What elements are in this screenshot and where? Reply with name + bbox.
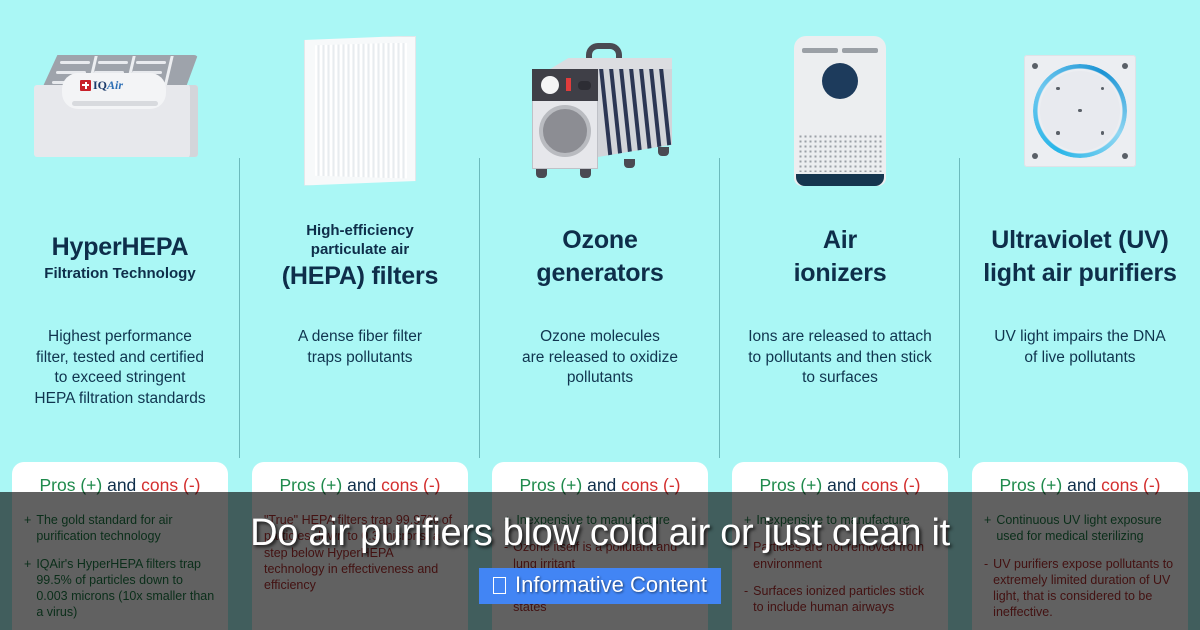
uv-light-panel-icon	[968, 0, 1192, 215]
informative-content-badge[interactable]: Informative Content	[479, 568, 721, 604]
missing-glyph-icon	[493, 577, 506, 594]
badge-label: Informative Content	[515, 572, 707, 598]
pleated-hepa-filter-icon	[248, 0, 472, 215]
column-title-block: Ultraviolet (UV)light air purifiers	[983, 215, 1176, 299]
column-title: Ultraviolet (UV)light air purifiers	[983, 224, 1176, 291]
overlay-title: Do air purifiers blow cold air or just c…	[0, 512, 1200, 555]
column-subtitle: Filtration Technology	[44, 264, 195, 284]
column-description: Ions are released to attachto pollutants…	[748, 327, 932, 389]
swiss-cross-icon	[80, 80, 91, 91]
column-title-block: High-efficiencyparticulate air (HEPA) fi…	[282, 215, 438, 299]
column-title-block: Airionizers	[794, 215, 887, 299]
column-title: Ozonegenerators	[536, 224, 663, 291]
ozone-generator-machine-icon	[488, 0, 712, 215]
column-title-small: High-efficiencyparticulate air	[282, 221, 438, 260]
column-description: A dense fiber filtertraps pollutants	[298, 327, 422, 368]
column-title-block: HyperHEPA Filtration Technology	[44, 215, 195, 299]
column-description: Highest performancefilter, tested and ce…	[34, 327, 205, 409]
column-description: UV light impairs the DNAof live pollutan…	[994, 327, 1165, 368]
column-description: Ozone moleculesare released to oxidizepo…	[522, 327, 678, 389]
column-title: HyperHEPA	[44, 231, 195, 264]
infographic-page: IQAir HyperHEPA Filtration Technology Hi…	[0, 0, 1200, 630]
iqair-hyperhepa-unit-icon: IQAir	[8, 0, 232, 215]
column-title-block: Ozonegenerators	[536, 215, 663, 299]
column-title: (HEPA) filters	[282, 260, 438, 293]
air-ionizer-tower-icon	[728, 0, 952, 215]
column-title: Airionizers	[794, 224, 887, 291]
